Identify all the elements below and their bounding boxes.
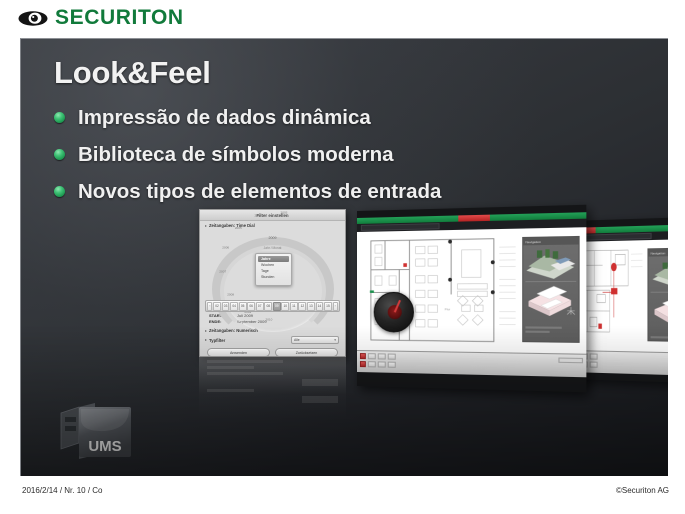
- brand-name: SECURITON: [55, 6, 184, 30]
- list-item: Biblioteca de símbolos moderna: [54, 136, 614, 173]
- typefilter-value: Alle: [294, 338, 300, 342]
- strip-cell[interactable]: 12: [298, 302, 306, 311]
- reflection-box: [302, 379, 338, 386]
- toolbar-button[interactable]: [378, 353, 386, 359]
- slide-header: SECURITON: [0, 0, 685, 38]
- reflection-line: [207, 372, 283, 375]
- typefilter-label: Typfilter: [209, 338, 225, 343]
- strip-cell[interactable]: 04: [230, 302, 238, 311]
- apply-button[interactable]: Anwenden: [207, 348, 270, 357]
- dial-tick: 2004: [255, 213, 262, 217]
- section-label: Zeitangaben: Time Dial: [209, 223, 255, 228]
- section-header-time-dial[interactable]: Zeitangaben: Time Dial: [200, 221, 345, 229]
- building-3d-view[interactable]: [648, 256, 668, 292]
- bullet-dot-icon: [54, 149, 65, 160]
- list-item: Impressão de dados dinâmica: [54, 99, 614, 136]
- side-panel-text-lines: [523, 324, 578, 337]
- reset-button[interactable]: Zurücksetzen: [275, 348, 338, 357]
- strip-prev-button[interactable]: ‹: [207, 302, 212, 311]
- strip-cell[interactable]: 08: [264, 302, 272, 311]
- strip-cell[interactable]: 11: [290, 302, 298, 311]
- svg-text:Flur: Flur: [445, 307, 450, 311]
- strip-next-button[interactable]: ›: [333, 302, 338, 311]
- footer-copyright: ©Securiton AG: [616, 486, 669, 495]
- dial-tick: 2008: [227, 293, 234, 297]
- dialog-reflection: [199, 357, 346, 419]
- toolbar-button[interactable]: [590, 353, 598, 359]
- building-3d-view[interactable]: [523, 244, 578, 281]
- bullet-label: Novos tipos de elementos de entrada: [78, 180, 441, 204]
- side-panel-text-lines: [648, 334, 668, 342]
- text-line: [525, 331, 549, 333]
- strip-cell[interactable]: 10: [281, 302, 289, 311]
- bullet-label: Impressão de dados dinâmica: [78, 106, 371, 130]
- chevron-right-icon: [205, 330, 207, 332]
- chevron-down-icon: ▾: [334, 338, 336, 342]
- text-line: [651, 336, 668, 339]
- bullet-dot-icon: [54, 112, 65, 123]
- list-item: Novos tipos de elementos de entrada: [54, 173, 614, 210]
- month-number-strip[interactable]: ‹ 02 03 04 05 06 07 08 09 10 11 12 13 14…: [205, 300, 340, 312]
- text-line: [651, 340, 668, 342]
- presentation-slide: SECURITON Look&Feel Impressão de dados d…: [0, 0, 685, 514]
- ums-product-icon: UMS: [57, 399, 137, 465]
- floor-plan-canvas[interactable]: Flur: [363, 232, 520, 351]
- reflection-line: [207, 389, 254, 392]
- toolbar-button[interactable]: [368, 361, 376, 367]
- securiton-logo: SECURITON: [18, 6, 184, 30]
- floorplan-window-screenshot-primary: Flur Navigation: [357, 205, 586, 393]
- floor-isometric-view[interactable]: [648, 293, 668, 335]
- window-content: Flur Navigation: [357, 227, 586, 353]
- floor-isometric-view[interactable]: [523, 282, 578, 325]
- toolbar-button[interactable]: [590, 362, 598, 368]
- reflection-line: [207, 366, 254, 369]
- toolbar-button[interactable]: [368, 353, 376, 359]
- alarm-indicator: [459, 215, 491, 222]
- dial-tick: 2007: [219, 270, 226, 274]
- reflection-box: [302, 396, 338, 403]
- eye-icon: [18, 9, 48, 28]
- status-field: [558, 357, 583, 363]
- dial-tick: 2005: [235, 226, 242, 230]
- dialog-titlebar: Filter einstellen: [200, 210, 345, 221]
- footer-meta: 2016/2/14 / Nr. 10 / Co: [22, 486, 103, 495]
- bullet-dot-icon: [54, 186, 65, 197]
- strip-cell[interactable]: 07: [256, 302, 264, 311]
- strip-cell[interactable]: 02: [213, 302, 221, 311]
- strip-cell[interactable]: 13: [307, 302, 315, 311]
- dial-unit-menu[interactable]: Jahre Wochen Tage Stunden: [255, 253, 292, 286]
- bullet-list: Impressão de dados dinâmica Biblioteca d…: [54, 99, 614, 210]
- toolbar-row: [360, 361, 583, 372]
- chevron-right-icon: [205, 339, 207, 341]
- toolbar-button[interactable]: [378, 361, 386, 367]
- text-line: [525, 326, 561, 328]
- strip-cell[interactable]: 15: [324, 302, 332, 311]
- chevron-right-icon: [205, 225, 207, 227]
- strip-cell[interactable]: 14: [316, 302, 324, 311]
- dialog-body: Zeitangaben: Time Dial 2009 Jahr / Monat…: [200, 221, 345, 357]
- alarm-button[interactable]: [360, 361, 366, 367]
- radial-gauge-overlay[interactable]: [374, 292, 414, 333]
- slide-body-panel: Look&Feel Impressão de dados dinâmica Bi…: [20, 38, 668, 476]
- alarm-button[interactable]: [360, 353, 366, 359]
- filter-dialog-screenshot: Filter einstellen Zeitangaben: Time Dial…: [199, 209, 346, 357]
- strip-cell[interactable]: 06: [247, 302, 255, 311]
- strip-cell[interactable]: 05: [239, 302, 247, 311]
- strip-cell[interactable]: 03: [222, 302, 230, 311]
- dial-tick: 2010: [265, 317, 272, 321]
- slide-footer: 2016/2/14 / Nr. 10 / Co ©Securiton AG: [0, 476, 685, 514]
- window-toolbar: [357, 350, 586, 377]
- dial-tick: 2003: [281, 211, 288, 215]
- time-dial[interactable]: 2009 Jahr / Monat 2003 2004 2005 2006 20…: [206, 229, 339, 299]
- bullet-label: Biblioteca de símbolos moderna: [78, 143, 394, 167]
- ums-label: UMS: [88, 438, 121, 455]
- spacer: [398, 357, 556, 360]
- navigation-side-panel[interactable]: Navigation: [522, 236, 579, 343]
- spacer: [600, 357, 668, 359]
- typefilter-select[interactable]: Alle ▾: [291, 336, 339, 344]
- toolbar-button[interactable]: [388, 354, 396, 360]
- dial-tick: 2006: [222, 246, 229, 250]
- reflection-line: [207, 360, 283, 363]
- toolbar-button[interactable]: [388, 362, 396, 368]
- navigation-side-panel[interactable]: Navigation: [647, 247, 668, 342]
- dialog-button-row: Anwenden Zurücksetzen: [200, 344, 345, 357]
- menu-item-stunden[interactable]: Stunden: [258, 274, 289, 280]
- page-title: Look&Feel: [54, 55, 211, 91]
- strip-cell-active[interactable]: 09: [273, 302, 281, 311]
